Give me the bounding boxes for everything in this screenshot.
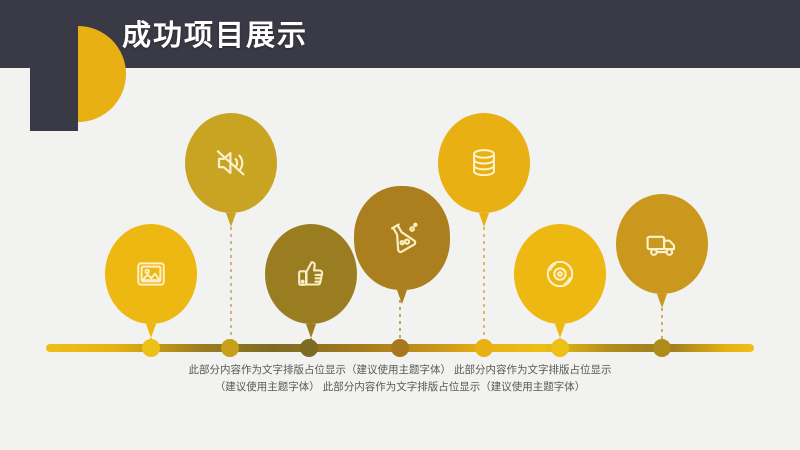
slide-canvas: 成功项目展示 <box>0 0 800 450</box>
bubble-tail <box>555 324 565 338</box>
timeline-bubble-speaker-mute[interactable] <box>185 113 277 213</box>
caption-line2-part2: 此部分内容作为文字排版占位显示（建议使用主题字体） <box>323 381 586 393</box>
thumbs-up-icon <box>293 256 329 292</box>
caption-line-1: 此部分内容作为文字排版占位显示（建议使用主题字体） 此部分内容作为文字排版占位显… <box>140 362 660 379</box>
bubble-tail <box>657 294 667 308</box>
caption-line2-part1: （建议使用主题字体） <box>215 381 320 393</box>
timeline-bubble-truck[interactable] <box>616 194 708 294</box>
page-title: 成功项目展示 <box>122 19 308 53</box>
timeline-dot-6[interactable] <box>551 339 569 357</box>
timeline-dot-4[interactable] <box>391 339 409 357</box>
decor-dark-square <box>30 68 78 131</box>
timeline-bubble-thumbs-up[interactable] <box>265 224 357 324</box>
timeline-dot-3[interactable] <box>300 339 318 357</box>
connector-line-5 <box>483 213 485 344</box>
bubble-tail <box>479 213 489 227</box>
truck-icon <box>644 226 680 262</box>
connector-line-2 <box>230 213 232 344</box>
image-icon <box>134 257 168 291</box>
database-icon <box>467 146 501 180</box>
timeline-bubble-image[interactable] <box>105 224 197 324</box>
disc-icon <box>543 257 577 291</box>
caption-block: 此部分内容作为文字排版占位显示（建议使用主题字体） 此部分内容作为文字排版占位显… <box>140 362 660 396</box>
timeline-dot-1[interactable] <box>142 339 160 357</box>
decor-quadrant-top-left <box>30 26 78 74</box>
timeline-bubble-flask[interactable] <box>354 186 450 290</box>
bubble-tail <box>306 324 316 338</box>
caption-line-2: （建议使用主题字体） 此部分内容作为文字排版占位显示（建议使用主题字体） <box>140 379 660 396</box>
caption-line1-part2: 此部分内容作为文字排版占位显示 <box>454 364 612 376</box>
bubble-tail <box>397 290 407 304</box>
timeline-dot-7[interactable] <box>653 339 671 357</box>
speaker-mute-icon <box>213 145 249 181</box>
flask-icon <box>383 219 421 257</box>
timeline-dot-5[interactable] <box>475 339 493 357</box>
decor-quadrant-bottom-right <box>78 74 126 122</box>
decor-quadrant-top-right <box>78 26 126 74</box>
bubble-tail <box>146 324 156 338</box>
timeline-dot-2[interactable] <box>221 339 239 357</box>
bubble-tail <box>226 213 236 227</box>
timeline-bubble-database[interactable] <box>438 113 530 213</box>
timeline-bubble-disc[interactable] <box>514 224 606 324</box>
caption-line1-part1: 此部分内容作为文字排版占位显示（建议使用主题字体） <box>189 364 452 376</box>
